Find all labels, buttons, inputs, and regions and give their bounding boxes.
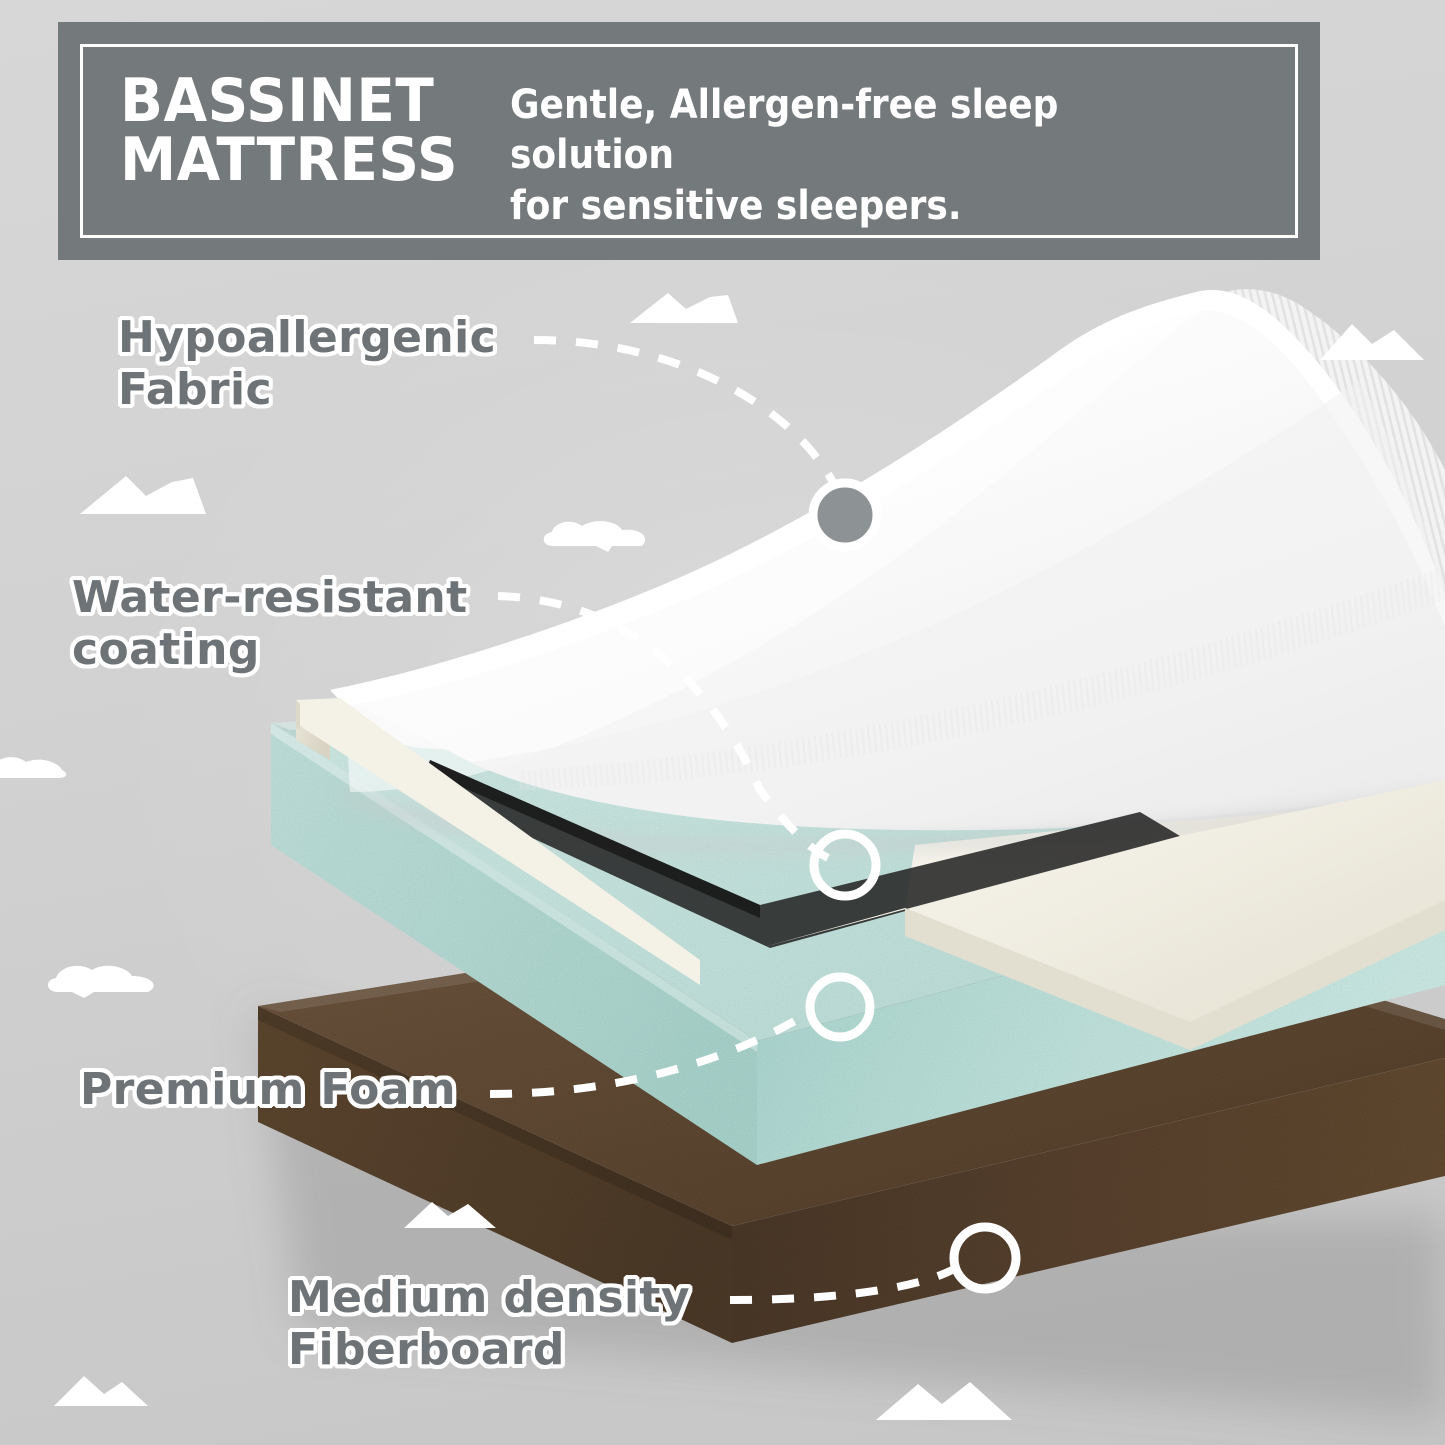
mountain-icon xyxy=(630,287,738,323)
cloud-icon xyxy=(42,960,160,1002)
mountain-icon xyxy=(404,1196,496,1228)
callout-label-water-resistant-coating: Water-resistant coating xyxy=(72,572,468,676)
product-infographic: BASSINET MATTRESS Gentle, Allergen-free … xyxy=(0,0,1445,1445)
callout-label-hypoallergenic-fabric: Hypoallergenic Fabric xyxy=(118,312,496,416)
mountain-icon xyxy=(1320,320,1424,360)
mountain-icon xyxy=(80,470,206,514)
cloud-icon xyxy=(538,516,650,556)
mountain-icon xyxy=(876,1380,1012,1420)
callout-label-premium-foam: Premium Foam xyxy=(80,1064,456,1116)
page-title: BASSINET MATTRESS xyxy=(120,68,458,190)
mountain-icon xyxy=(54,1372,148,1406)
callout-label-medium-density-fiberboard: Medium density Fiberboard xyxy=(288,1272,690,1376)
page-subtitle: Gentle, Allergen-free sleep solution for… xyxy=(510,68,1212,231)
cloud-icon xyxy=(0,752,70,786)
header-banner: BASSINET MATTRESS Gentle, Allergen-free … xyxy=(58,22,1320,260)
